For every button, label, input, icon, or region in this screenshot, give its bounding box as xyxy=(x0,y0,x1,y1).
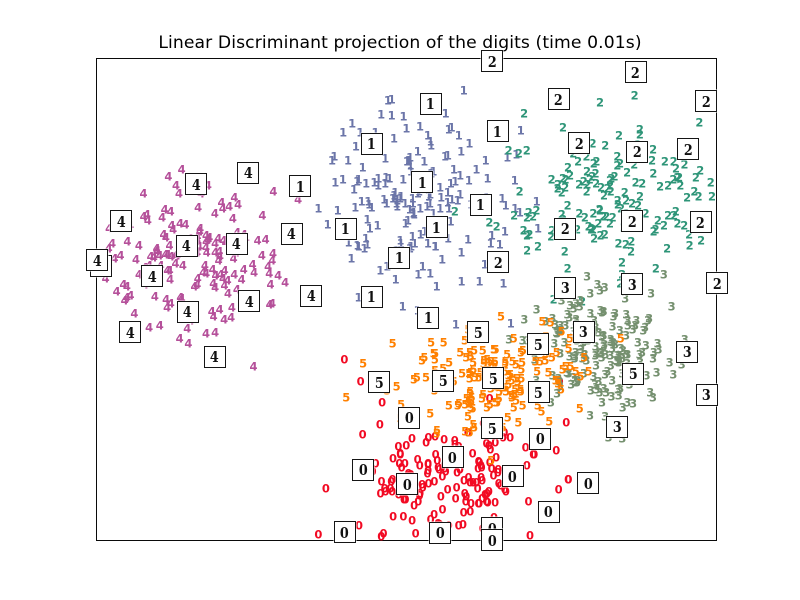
plot-frame xyxy=(96,58,717,541)
page-title: Linear Discriminant projection of the di… xyxy=(0,33,800,53)
figure-canvas: Linear Discriminant projection of the di… xyxy=(0,0,800,600)
